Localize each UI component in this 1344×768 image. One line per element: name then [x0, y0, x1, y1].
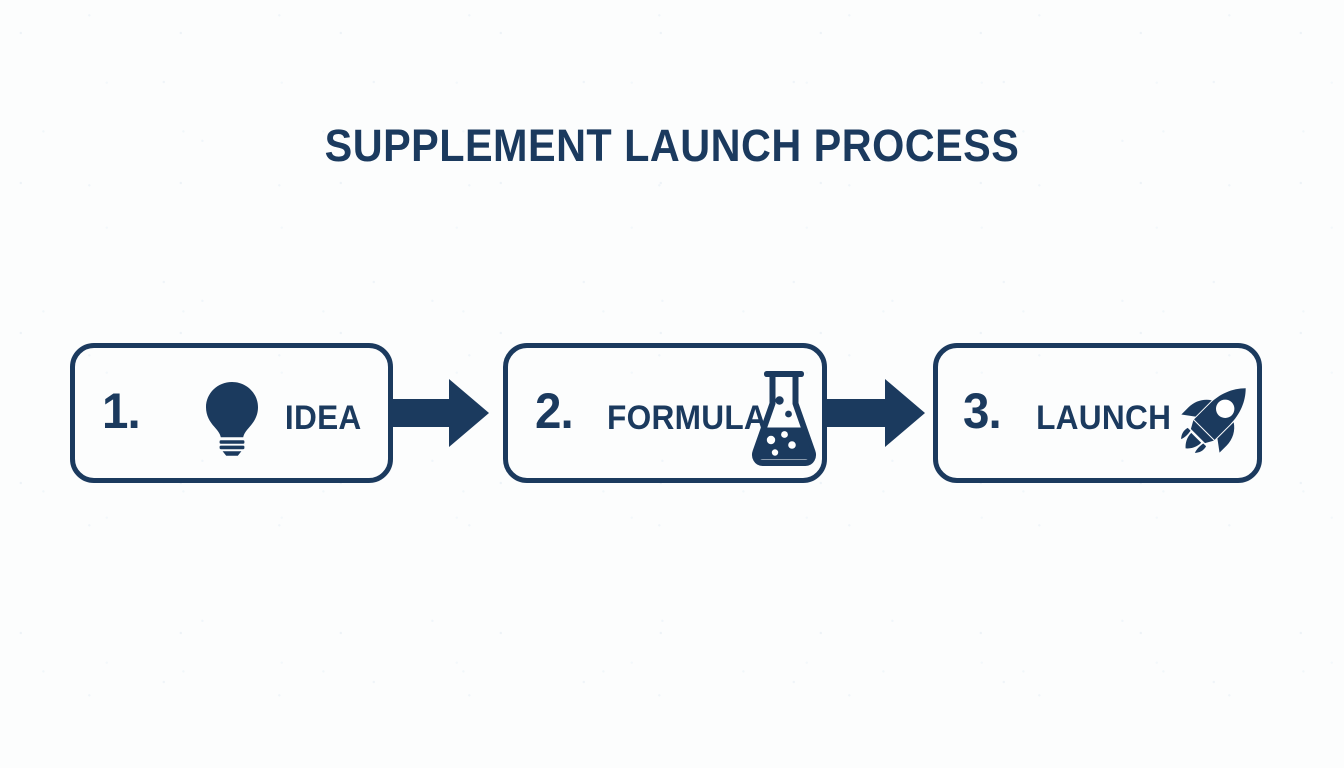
arrow-right-icon-2	[825, 373, 925, 453]
lightbulb-icon	[201, 380, 263, 456]
step-box-launch[interactable]: 3. LAUNCH	[933, 343, 1262, 483]
step-label-launch: LAUNCH	[1036, 401, 1171, 435]
step-content-idea: 1. IDEA	[75, 348, 388, 478]
step-number-2: 2.	[535, 386, 573, 436]
diagram-canvas: SUPPLEMENT LAUNCH PROCESS 1. IDEA 2.	[0, 0, 1344, 768]
step-content-formula: 2. FORMULA	[508, 348, 822, 478]
arrow-right-icon-1	[391, 373, 489, 453]
step-box-idea[interactable]: 1. IDEA	[70, 343, 393, 483]
step-label-idea: IDEA	[285, 401, 362, 435]
step-number-3: 3.	[963, 386, 1001, 436]
rocket-icon	[1170, 372, 1262, 464]
step-label-formula: FORMULA	[607, 401, 767, 435]
step-content-launch: 3. LAUNCH	[938, 348, 1257, 478]
page-title: SUPPLEMENT LAUNCH PROCESS	[54, 118, 1290, 174]
flask-icon	[751, 367, 817, 469]
step-box-formula[interactable]: 2. FORMULA	[503, 343, 827, 483]
step-number-1: 1.	[102, 386, 140, 436]
